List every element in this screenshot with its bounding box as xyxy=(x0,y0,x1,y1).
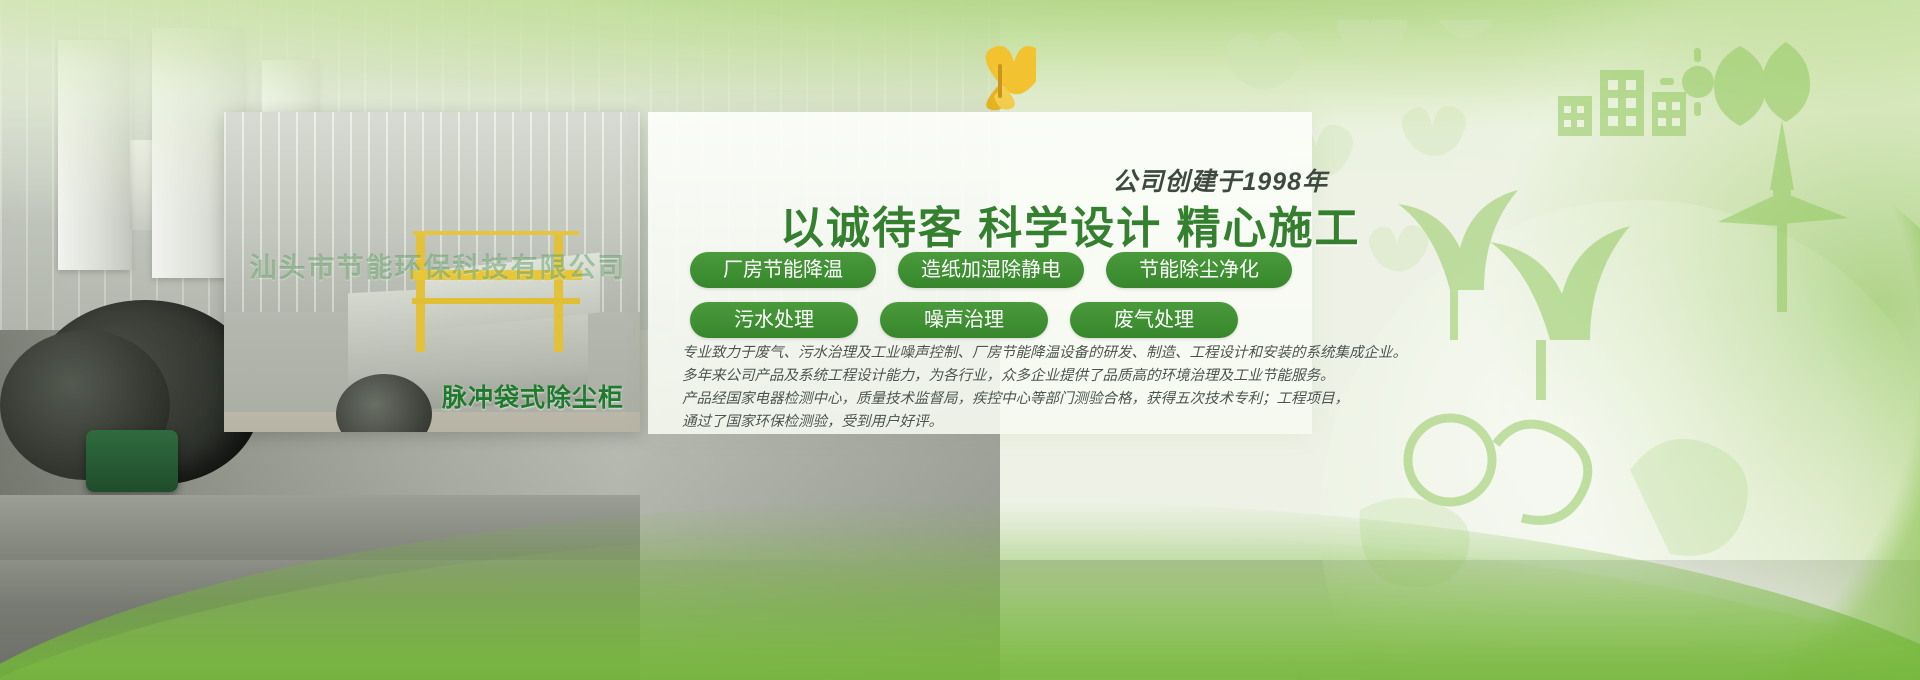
windmill-blade-3 xyxy=(1718,192,1782,226)
description-line: 产品经国家电器检测中心，质量技术监督局，疾控中心等部门测验合格，获得五次技术专利… xyxy=(682,388,1322,411)
sun-icon xyxy=(1682,66,1714,98)
windmill-blade-1 xyxy=(1770,120,1794,190)
eco-swirl-icon xyxy=(1496,424,1588,520)
description-line: 通过了国家环保检测验，受到用户好评。 xyxy=(682,411,1322,434)
service-pill[interactable]: 废气处理 xyxy=(1070,302,1238,338)
butterfly-icon-3 xyxy=(1434,20,1498,38)
photo-handrail-post-left xyxy=(416,232,425,352)
butterfly-icon-1 xyxy=(1226,32,1302,90)
leaf-icon-1 xyxy=(1714,46,1766,126)
recycle-ring-icon xyxy=(1408,418,1492,502)
service-pill[interactable]: 噪声治理 xyxy=(880,302,1048,338)
company-description: 专业致力于废气、污水治理及工业噪声控制、厂房节能降温设备的研发、制造、工程设计和… xyxy=(682,342,1322,434)
leaf-icon-2 xyxy=(1762,42,1810,122)
description-line: 专业致力于废气、污水治理及工业噪声控制、厂房节能降温设备的研发、制造、工程设计和… xyxy=(682,342,1322,365)
product-photo-card: 脉冲袋式除尘柜 xyxy=(224,112,640,432)
map-blob-icon xyxy=(1630,439,1748,556)
windmill-blade-2 xyxy=(1782,192,1848,224)
photo-caption: 脉冲袋式除尘柜 xyxy=(442,378,624,414)
butterfly-icon-5 xyxy=(1402,106,1466,156)
description-line: 多年来公司产品及系统工程设计能力，为各行业，众多企业提供了品质高的环境治理及工业… xyxy=(682,365,1322,388)
tree-trunk-1 xyxy=(1536,340,1546,400)
service-pill[interactable]: 造纸加湿除静电 xyxy=(898,252,1084,288)
service-pill[interactable]: 污水处理 xyxy=(690,302,858,338)
service-pill-list: 厂房节能降温 造纸加湿除静电 节能除尘净化 污水处理 噪声治理 废气处理 xyxy=(690,252,1310,338)
butterfly-icon-2 xyxy=(1337,20,1407,59)
butterfly-icon-7 xyxy=(1369,225,1429,271)
photo-handrail xyxy=(410,270,582,280)
photo-ground-dirt xyxy=(224,412,640,432)
yellow-butterfly-icon xyxy=(966,44,1036,112)
motor-unit xyxy=(86,430,178,492)
service-pill[interactable]: 节能除尘净化 xyxy=(1106,252,1292,288)
promo-banner: 脉冲袋式除尘柜 汕头市节能环保科技有限公司 公司创建于1998年 以诚待客 科学… xyxy=(0,0,1920,680)
service-pill[interactable]: 厂房节能降温 xyxy=(690,252,876,288)
banner-headline: 以诚待客 科学设计 精心施工 xyxy=(780,192,1328,256)
photo-handrail-post-right xyxy=(554,232,563,352)
